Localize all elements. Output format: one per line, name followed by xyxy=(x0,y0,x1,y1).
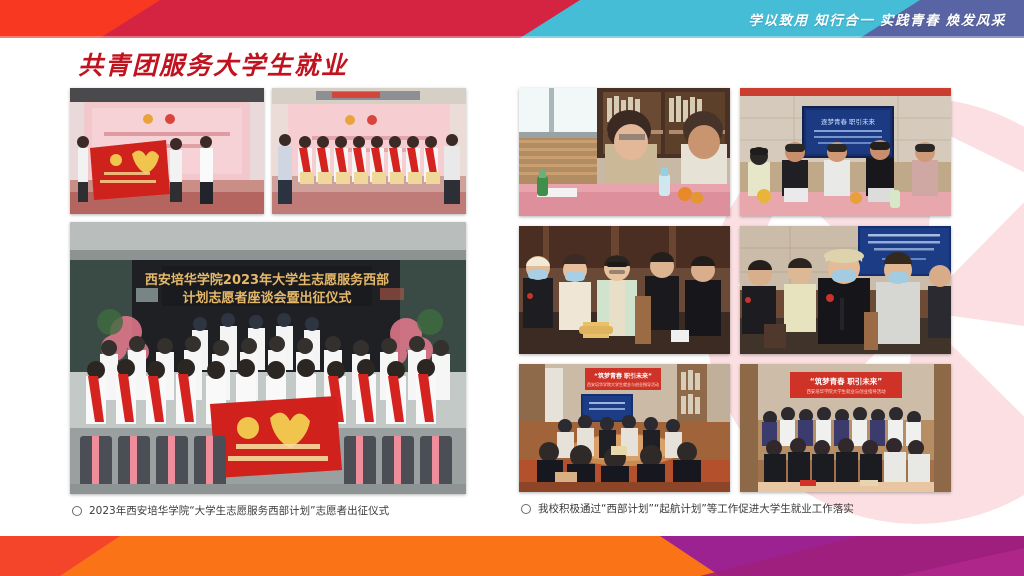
photo-screen-session-image: 逐梦青春 职引未来 xyxy=(740,88,951,216)
left-photo-panel: 西安培华学院2023年大学生志愿服务西部 计划志愿者座谈会暨出征仪式 xyxy=(70,88,466,518)
right-photo-grid: 逐梦青春 职引未来 xyxy=(519,88,951,492)
left-top-row xyxy=(70,88,466,214)
photo-audience-left-image xyxy=(519,226,730,354)
left-caption-text: 2023年西安培华学院“大学生志愿服务西部计划”志愿者出征仪式 xyxy=(89,503,389,518)
svg-text:西安培华学院2023年大学生志愿服务西部: 西安培华学院2023年大学生志愿服务西部 xyxy=(145,272,389,288)
photo-roundtable-talk[interactable] xyxy=(519,88,730,216)
svg-text:西安培华学院大学生就业与创业指导活动: 西安培华学院大学生就业与创业指导活动 xyxy=(587,381,659,387)
page-title: 共青团服务大学生就业 xyxy=(78,46,348,82)
photo-seminar-room[interactable]: “筑梦青春 职引未来” 西安培华学院大学生就业与创业指导活动 xyxy=(519,364,730,492)
svg-text:逐梦青春 职引未来: 逐梦青春 职引未来 xyxy=(821,117,876,126)
photo-award-lineup-image xyxy=(272,88,466,214)
svg-text:“筑梦青春 职引未来”: “筑梦青春 职引未来” xyxy=(594,372,652,380)
photo-roundtable-talk-image xyxy=(519,88,730,216)
left-panel-caption: 2023年西安培华学院“大学生志愿服务西部计划”志愿者出征仪式 xyxy=(72,503,466,518)
photo-screen-session[interactable]: 逐梦青春 职引未来 xyxy=(740,88,951,216)
slide-root: 学以致用 知行合一 实践青春 焕发风采 共青团服务大学生就业 xyxy=(0,0,1024,576)
footer-band xyxy=(0,530,1024,576)
photo-audience-left[interactable] xyxy=(519,226,730,354)
svg-text:计划志愿者座谈会暨出征仪式: 计划志愿者座谈会暨出征仪式 xyxy=(182,290,351,306)
photo-group-photo-banner-image: “筑梦青春 职引未来” 西安培华学院大学生就业与创业指导活动 xyxy=(740,364,951,492)
photo-audience-right-image xyxy=(740,226,951,354)
circle-bullet-icon xyxy=(521,504,531,514)
right-photo-panel: 逐梦青春 职引未来 xyxy=(519,88,951,516)
photo-group-departure[interactable]: 西安培华学院2023年大学生志愿服务西部 计划志愿者座谈会暨出征仪式 xyxy=(70,222,466,494)
svg-text:“筑梦青春 职引未来”: “筑梦青春 职引未来” xyxy=(810,376,883,386)
circle-bullet-icon xyxy=(72,506,82,516)
header-slogan: 学以致用 知行合一 实践青春 焕发风采 xyxy=(748,0,1006,38)
photo-flag-ceremony-image xyxy=(70,88,264,214)
content-area: 西安培华学院2023年大学生志愿服务西部 计划志愿者座谈会暨出征仪式 xyxy=(0,88,1024,524)
right-panel-caption: 我校积极通过“西部计划”“起航计划”等工作促进大学生就业工作落实 xyxy=(521,501,951,516)
photo-award-lineup[interactable] xyxy=(272,88,466,214)
photo-audience-right[interactable] xyxy=(740,226,951,354)
photo-flag-ceremony[interactable] xyxy=(70,88,264,214)
photo-group-photo-banner[interactable]: “筑梦青春 职引未来” 西安培华学院大学生就业与创业指导活动 xyxy=(740,364,951,492)
svg-text:西安培华学院大学生就业与创业指导活动: 西安培华学院大学生就业与创业指导活动 xyxy=(806,388,886,395)
photo-group-departure-image: 西安培华学院2023年大学生志愿服务西部 计划志愿者座谈会暨出征仪式 xyxy=(70,222,466,494)
right-caption-text: 我校积极通过“西部计划”“起航计划”等工作促进大学生就业工作落实 xyxy=(538,501,854,516)
photo-seminar-room-image: “筑梦青春 职引未来” 西安培华学院大学生就业与创业指导活动 xyxy=(519,364,730,492)
